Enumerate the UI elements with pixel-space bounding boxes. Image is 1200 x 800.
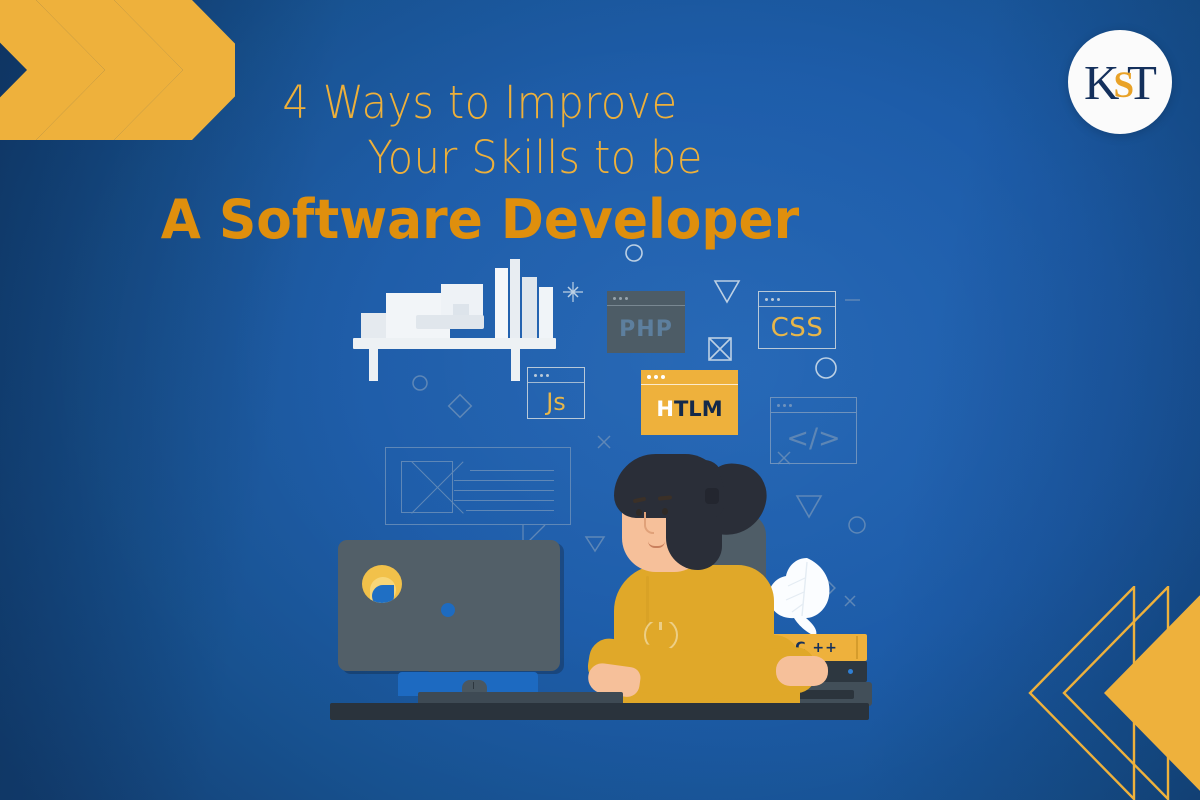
window-divider <box>759 306 835 307</box>
window-dot <box>546 374 549 377</box>
window-dot <box>654 375 658 379</box>
code-window-css-label: CSS <box>759 307 835 349</box>
monitor-sticker <box>362 565 402 603</box>
window-titlebar <box>641 370 738 384</box>
person-nose <box>644 512 654 534</box>
code-window-js-label: Js <box>528 383 584 420</box>
window-divider <box>607 305 685 306</box>
window-dot <box>625 297 628 300</box>
window-dot <box>534 374 537 377</box>
code-window-html-label: HTLM <box>641 385 738 433</box>
book-dot <box>848 669 853 674</box>
speech-bubble <box>385 447 571 525</box>
ponytail-band <box>705 488 719 504</box>
x-box-cross-icon <box>709 338 731 360</box>
window-divider <box>528 382 584 383</box>
person-developer <box>600 450 830 712</box>
desk-surface <box>330 703 869 720</box>
circle-outline-icon <box>413 376 427 390</box>
sweater-fold <box>646 576 649 628</box>
window-titlebar <box>528 368 584 382</box>
cross-x-icon <box>845 596 855 606</box>
window-divider <box>641 384 738 385</box>
window-titlebar <box>607 291 685 305</box>
window-dot <box>619 297 622 300</box>
code-window-html-label-part1: H <box>656 397 674 421</box>
circle-outline-icon <box>816 358 836 378</box>
window-dot <box>777 404 780 407</box>
code-window-html: HTLM <box>641 370 738 435</box>
diamond-outline-icon <box>449 395 472 418</box>
shelf-book <box>522 277 537 338</box>
window-dot <box>789 404 792 407</box>
code-window-css: CSS <box>758 291 836 349</box>
window-dot <box>661 375 665 379</box>
window-dot <box>771 298 774 301</box>
triangle-down-icon <box>715 281 739 302</box>
person-eye <box>662 508 668 515</box>
window-dot <box>765 298 768 301</box>
window-dot <box>613 297 616 300</box>
shelf-book <box>539 287 553 338</box>
shelf-bracket <box>369 349 378 381</box>
code-window-js: Js <box>527 367 585 419</box>
shelf-bracket <box>511 349 520 381</box>
code-window-php-label: PHP <box>607 306 685 352</box>
sparkle-icon <box>563 282 583 302</box>
monitor-back-panel <box>338 540 560 671</box>
shelf-book <box>510 259 520 338</box>
shelf-board <box>353 338 556 349</box>
window-dot <box>647 375 651 379</box>
cross-x-icon <box>598 436 610 448</box>
window-dot <box>777 298 780 301</box>
monitor-logo-dot <box>441 603 455 617</box>
window-titlebar <box>759 292 835 306</box>
person-hand-left <box>776 656 828 686</box>
person-hair-top <box>614 454 724 518</box>
circle-outline-icon <box>849 517 865 533</box>
poster-canvas: KST 4 Ways to Improve Your Skills to be … <box>0 0 1200 800</box>
power-symbol-mask <box>650 610 672 622</box>
circle-outline-icon <box>626 245 642 261</box>
illustration: PHP CSS Js <box>0 0 1200 800</box>
logo-letter-s: S <box>1113 67 1133 104</box>
window-dot <box>540 374 543 377</box>
window-dot <box>783 404 786 407</box>
sticker-blue-shape <box>372 585 394 603</box>
shelf-book <box>495 268 508 338</box>
shelf-tray <box>416 315 484 329</box>
person-eye <box>636 509 642 516</box>
code-window-html-label-part2: TLM <box>674 397 723 421</box>
code-window-php: PHP <box>607 291 685 353</box>
window-titlebar <box>771 398 856 412</box>
